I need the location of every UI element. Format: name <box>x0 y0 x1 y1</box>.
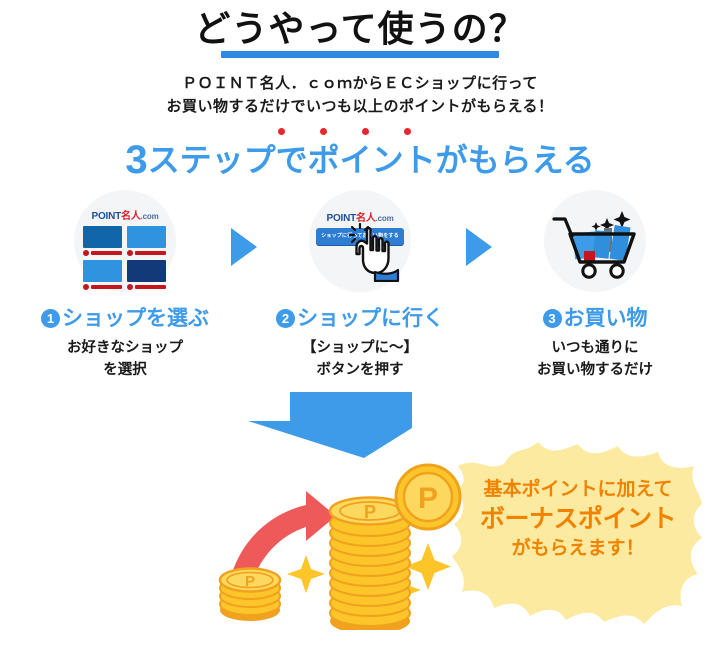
lead-heading: 3ステップでポイントがもらえる <box>0 138 720 182</box>
subtitle-line-2: お買い物するだけでいつも以上のポイントがもらえる！ <box>0 95 720 118</box>
step-2-heading-text: ショップに行く <box>297 307 444 330</box>
shop-grid-icon: POINT名人.com <box>74 190 176 292</box>
step-2-desc-line-2: ボタンを押す <box>245 360 475 382</box>
shopping-cart-icon <box>544 190 646 292</box>
coins-illustration: P P P <box>210 455 490 630</box>
emphasis-dots <box>160 128 560 137</box>
step-1-heading-text: ショップを選ぶ <box>62 307 209 330</box>
brand-logo: POINT名人.com <box>74 206 176 224</box>
step-2-number: 2 <box>276 309 295 328</box>
page-title: どうやって使うの？ <box>0 8 720 49</box>
logo-point-text: POINT <box>91 211 121 222</box>
step-1-number: 1 <box>41 309 60 328</box>
step-1-desc-line-1: お好きなショップ <box>10 338 240 360</box>
front-coin: P <box>396 465 460 529</box>
step-2[interactable]: POINT名人.com ショップに行ってお買い物をする <box>245 190 475 382</box>
tall-coin-stack: P <box>330 498 410 631</box>
step-3[interactable]: 3お買い物 いつも通りに お買い物するだけ <box>480 190 710 382</box>
shop-tile <box>83 260 122 290</box>
title-underline <box>221 51 499 58</box>
shop-tiles <box>83 226 167 290</box>
step-1-heading: 1ショップを選ぶ <box>10 306 240 331</box>
step-3-desc-line-1: いつも通りに <box>480 338 710 360</box>
cart-graphic <box>552 206 638 280</box>
step-3-number: 3 <box>543 309 562 328</box>
lead-number: 3 <box>125 138 147 182</box>
step-2-desc-line-1: 【ショップに〜】 <box>245 338 475 360</box>
logo-meijin-text: 名人 <box>121 211 141 222</box>
down-arrow-icon <box>248 390 412 460</box>
step-1-description: お好きなショップ を選択 <box>10 338 240 382</box>
step-separator-arrow-1 <box>231 228 257 266</box>
svg-text:P: P <box>364 502 376 522</box>
logo-com-text: .com <box>376 214 394 223</box>
subtitle-block: ＰＯＩＮＴ名人．ｃｏｍからＥＣショップに行って お買い物するだけでいつも以上のポ… <box>0 72 720 119</box>
small-coin-stack: P <box>220 569 280 622</box>
steps-row: POINT名人.com <box>0 190 720 390</box>
shop-tile <box>83 226 122 256</box>
lead-text: ステップでポイントがもらえる <box>148 142 595 178</box>
step-1[interactable]: POINT名人.com <box>10 190 240 382</box>
shop-tile <box>127 260 166 290</box>
click-button-icon: POINT名人.com ショップに行ってお買い物をする <box>309 190 411 292</box>
shop-tile <box>127 226 166 256</box>
step-1-desc-line-2: を選択 <box>10 360 240 382</box>
step-3-heading-text: お買い物 <box>564 307 648 330</box>
step-3-desc-line-2: お買い物するだけ <box>480 360 710 382</box>
svg-text:P: P <box>418 482 438 515</box>
step-2-heading: 2ショップに行く <box>245 306 475 331</box>
subtitle-line-1: ＰＯＩＮＴ名人．ｃｏｍからＥＣショップに行って <box>0 72 720 95</box>
step-3-heading: 3お買い物 <box>480 306 710 331</box>
page-title-block: どうやって使うの？ <box>0 8 720 58</box>
logo-com-text: .com <box>141 212 159 221</box>
growth-arrow-icon <box>232 491 336 577</box>
step-separator-arrow-2 <box>466 228 492 266</box>
pointing-hand-cursor-icon <box>353 226 405 282</box>
step-3-description: いつも通りに お買い物するだけ <box>480 338 710 382</box>
infographic-page: どうやって使うの？ ＰＯＩＮＴ名人．ｃｏｍからＥＣショップに行って お買い物する… <box>0 0 720 648</box>
lead-heading-block: 3ステップでポイントがもらえる <box>0 128 720 182</box>
svg-text:P: P <box>245 573 255 590</box>
step-2-description: 【ショップに〜】 ボタンを押す <box>245 338 475 382</box>
